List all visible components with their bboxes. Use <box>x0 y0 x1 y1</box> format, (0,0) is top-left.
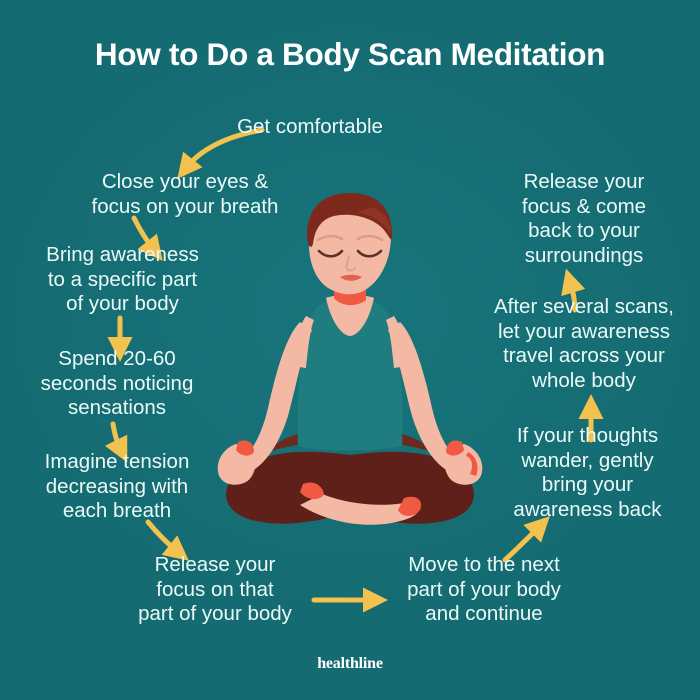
step-release-focus-part: Release your focus on that part of your … <box>110 553 320 627</box>
figure-head <box>307 193 392 307</box>
step-close-eyes: Close your eyes & focus on your breath <box>60 170 310 219</box>
step-after-several-scans: After several scans, let your awareness … <box>470 295 698 393</box>
step-release-come-back: Release your focus & come back to your s… <box>480 170 688 268</box>
step-imagine-tension: Imagine tension decreasing with each bre… <box>8 450 226 524</box>
step-thoughts-wander: If your thoughts wander, gently bring yo… <box>480 424 695 522</box>
infographic-canvas: How to Do a Body Scan Meditation <box>0 0 700 700</box>
healthline-logo: healthline <box>0 655 700 673</box>
step-get-comfortable: Get comfortable <box>180 115 440 140</box>
step-spend-seconds: Spend 20-60 seconds noticing sensations <box>8 347 226 421</box>
step-move-next-part: Move to the next part of your body and c… <box>378 553 590 627</box>
step-bring-awareness: Bring awareness to a specific part of yo… <box>10 243 235 317</box>
